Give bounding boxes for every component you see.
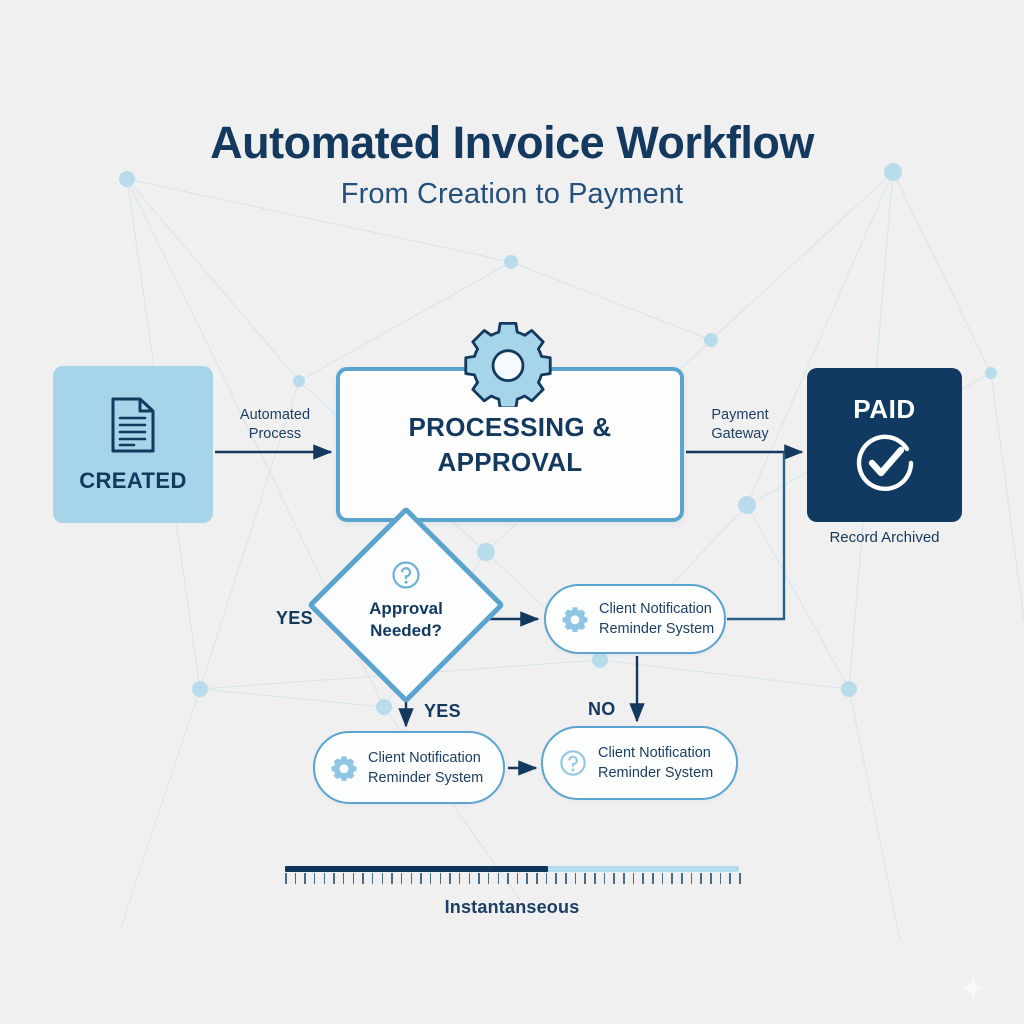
gear-icon xyxy=(331,755,357,781)
pill2-line1: Client Notification xyxy=(368,748,483,768)
gear-icon xyxy=(464,319,552,407)
timeline-fill xyxy=(285,866,548,872)
timeline-tick xyxy=(652,873,654,884)
timeline-tick xyxy=(584,873,586,884)
check-circle-icon xyxy=(851,429,919,497)
timeline-tick xyxy=(304,873,306,884)
timeline-bar xyxy=(285,866,739,872)
timeline-tick xyxy=(459,873,461,884)
timeline-tick xyxy=(642,873,644,884)
timeline-tick xyxy=(314,873,316,884)
node-client-notification-3-text: Client Notification Reminder System xyxy=(598,743,713,783)
timeline-tick xyxy=(555,873,557,884)
node-client-notification-3[interactable]: Client Notification Reminder System xyxy=(541,726,738,800)
timeline-tick xyxy=(362,873,364,884)
node-paid[interactable]: PAID xyxy=(807,368,962,522)
timeline-tick xyxy=(411,873,413,884)
timeline-tick xyxy=(498,873,500,884)
edge-label-payment-gateway: Payment Gateway xyxy=(688,406,792,445)
timeline-tick xyxy=(295,873,297,884)
timeline-tick xyxy=(401,873,403,884)
timeline-tick xyxy=(710,873,712,884)
timeline-tick xyxy=(478,873,480,884)
timeline-tick xyxy=(469,873,471,884)
timeline-tick xyxy=(372,873,374,884)
timeline-tick xyxy=(739,873,741,884)
page-subtitle: From Creation to Payment xyxy=(0,178,1024,211)
header: Automated Invoice Workflow From Creation… xyxy=(0,118,1024,211)
pill3-line2: Reminder System xyxy=(598,763,713,783)
timeline-tick xyxy=(729,873,731,884)
timeline-tick xyxy=(671,873,673,884)
page-title: Automated Invoice Workflow xyxy=(0,118,1024,168)
timeline-tick xyxy=(343,873,345,884)
timeline-tick xyxy=(391,873,393,884)
pill3-line1: Client Notification xyxy=(598,743,713,763)
timeline-tick xyxy=(449,873,451,884)
node-decision[interactable] xyxy=(307,506,505,704)
node-client-notification-1-text: Client Notification Reminder System xyxy=(599,599,714,639)
timeline-tick xyxy=(488,873,490,884)
pill1-line1: Client Notification xyxy=(599,599,714,619)
question-circle-icon xyxy=(559,749,587,777)
timeline-tick xyxy=(507,873,509,884)
pill2-line2: Reminder System xyxy=(368,768,483,788)
branch-label-no-down: NO xyxy=(588,699,616,720)
sparkle-icon xyxy=(960,975,986,1001)
node-processing-label: PROCESSING & APPROVAL xyxy=(370,410,650,479)
infographic-canvas: Automated Invoice Workflow From Creation… xyxy=(0,0,1024,1024)
timeline-ruler[interactable] xyxy=(285,866,739,884)
timeline-tick xyxy=(382,873,384,884)
timeline-tick xyxy=(613,873,615,884)
timeline-tick xyxy=(333,873,335,884)
timeline-tick xyxy=(324,873,326,884)
timeline-caption: Instantanseous xyxy=(285,897,739,918)
branch-label-yes-down: YES xyxy=(424,701,461,722)
timeline-tick xyxy=(575,873,577,884)
timeline-tick xyxy=(536,873,538,884)
node-paid-caption: Record Archived xyxy=(807,529,962,546)
node-client-notification-2[interactable]: Client Notification Reminder System xyxy=(313,731,505,804)
timeline-ticks xyxy=(285,873,739,884)
timeline-tick xyxy=(623,873,625,884)
timeline-tick xyxy=(430,873,432,884)
timeline-tick xyxy=(546,873,548,884)
pill1-line2: Reminder System xyxy=(599,619,714,639)
timeline-tick xyxy=(604,873,606,884)
timeline-tick xyxy=(420,873,422,884)
node-client-notification-1[interactable]: Client Notification Reminder System xyxy=(544,584,726,654)
gear-icon xyxy=(562,606,588,632)
timeline-tick xyxy=(565,873,567,884)
timeline-tick xyxy=(662,873,664,884)
timeline-tick xyxy=(720,873,722,884)
timeline-tick xyxy=(691,873,693,884)
node-created[interactable]: CREATED xyxy=(53,366,213,523)
branch-label-yes-left: YES xyxy=(276,608,313,629)
timeline-tick xyxy=(633,873,635,884)
timeline-tick xyxy=(285,873,287,884)
timeline-tick xyxy=(700,873,702,884)
edge-notify1-return-to-paid xyxy=(727,452,784,619)
node-client-notification-2-text: Client Notification Reminder System xyxy=(368,748,483,788)
node-paid-label: PAID xyxy=(853,394,916,425)
timeline-tick xyxy=(594,873,596,884)
timeline-tick xyxy=(517,873,519,884)
edge-label-automated-process: Automated Process xyxy=(222,406,328,445)
node-created-label: CREATED xyxy=(79,468,187,494)
timeline-tick xyxy=(526,873,528,884)
timeline-tick xyxy=(681,873,683,884)
timeline-tick xyxy=(353,873,355,884)
document-icon xyxy=(109,396,157,454)
timeline-tick xyxy=(440,873,442,884)
